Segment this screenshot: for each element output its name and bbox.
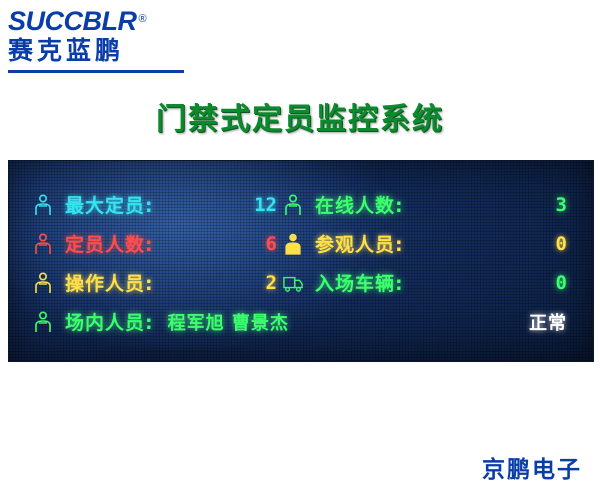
led-label-onsite-personnel: 场内人员: <box>65 308 154 335</box>
led-row-vehicles: 入场车辆: 0 <box>283 263 573 302</box>
led-row-online-count: 在线人数: 3 <box>283 185 573 224</box>
led-readout-grid: 最大定员: 12 在线人数: 3 定员人数: 6 <box>33 185 573 341</box>
led-row-onsite-personnel: 场内人员: 程军旭 曹景杰 正常 <box>33 302 573 341</box>
led-label-online-count: 在线人数: <box>315 191 404 218</box>
logo-underline-divider <box>8 70 184 73</box>
led-row-max-capacity: 最大定员: 12 <box>33 185 283 224</box>
led-value-onsite-names: 程军旭 曹景杰 <box>168 309 289 335</box>
led-status-badge: 正常 <box>529 309 573 335</box>
company-logo: SUCCBLR® 赛克蓝鹏 <box>8 6 208 74</box>
footer-company-label: 京鹏电子 <box>482 450 582 484</box>
person-red-icon <box>33 233 53 255</box>
led-value-vehicles: 0 <box>556 272 573 294</box>
person-green-icon <box>283 194 303 216</box>
led-value-max-capacity: 12 <box>254 194 283 216</box>
led-label-max-capacity: 最大定员: <box>65 191 154 218</box>
led-value-staffed-count: 6 <box>266 233 283 255</box>
logo-latin-label: SUCCBLR <box>8 6 137 36</box>
led-label-operators: 操作人员: <box>65 269 154 296</box>
page-title: 门禁式定员监控系统 <box>0 94 600 138</box>
led-display-panel: 最大定员: 12 在线人数: 3 定员人数: 6 <box>8 160 594 362</box>
led-row-staffed-count: 定员人数: 6 <box>33 224 283 263</box>
led-label-visitors: 参观人员: <box>315 230 404 257</box>
registered-trademark-icon: ® <box>139 13 147 25</box>
logo-chinese-label: 赛克蓝鹏 <box>8 36 208 66</box>
person-yellow-icon <box>33 272 53 294</box>
led-row-operators: 操作人员: 2 <box>33 263 283 302</box>
led-value-operators: 2 <box>266 272 283 294</box>
led-label-staffed-count: 定员人数: <box>65 230 154 257</box>
led-value-online-count: 3 <box>556 194 573 216</box>
led-label-vehicles: 入场车辆: <box>315 269 404 296</box>
logo-latin-text: SUCCBLR® <box>8 6 144 36</box>
led-value-visitors: 0 <box>556 233 573 255</box>
person-green-icon <box>33 311 53 333</box>
led-row-visitors: 参观人员: 0 <box>283 224 573 263</box>
person-cyan-icon <box>33 194 53 216</box>
person-yellow-icon <box>283 233 303 255</box>
truck-green-icon <box>283 272 303 294</box>
